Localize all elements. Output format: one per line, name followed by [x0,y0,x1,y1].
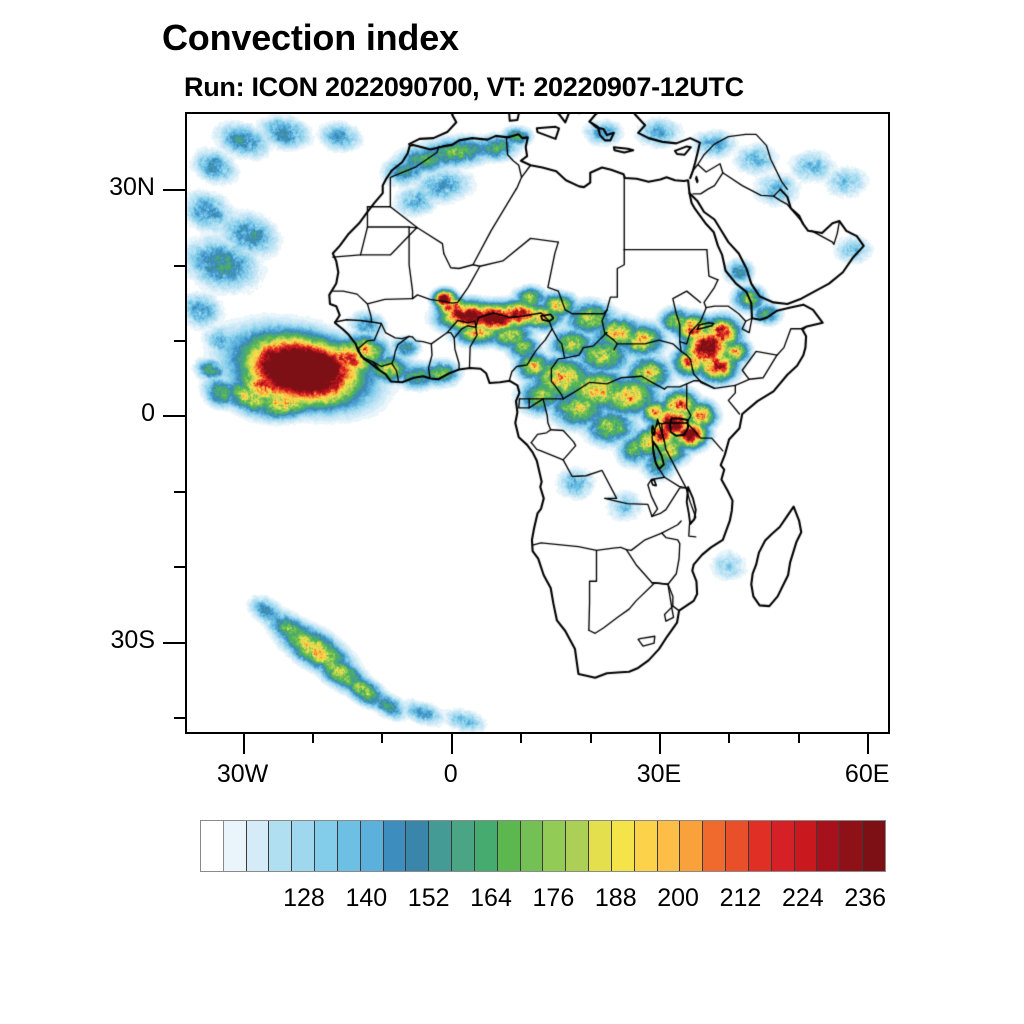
colorbar-cell [863,821,885,871]
page-subtitle: Run: ICON 2022090700, VT: 20220907-12UTC [184,72,744,103]
y-tick [174,265,185,267]
colorbar-cell [406,821,429,871]
colorbar-cell [269,821,292,871]
colorbar-cell [429,821,452,871]
x-tick [520,732,522,743]
colorbar[interactable] [200,820,886,872]
y-tick [163,642,185,644]
colorbar-cell [315,821,338,871]
colorbar-cell [338,821,361,871]
x-axis-label: 60E [807,760,927,789]
colorbar-cell [384,821,407,871]
map-plot-area[interactable] [185,112,890,734]
x-tick [728,732,730,743]
x-tick [590,732,592,743]
colorbar-cell [247,821,270,871]
colorbar-tick-label: 236 [805,884,925,913]
x-tick [243,732,245,754]
colorbar-cell [817,821,840,871]
colorbar-cell [543,821,566,871]
y-tick [163,189,185,191]
colorbar-cell [772,821,795,871]
y-axis-label: 30S [75,626,155,655]
colorbar-cell [589,821,612,871]
colorbar-cell [201,821,224,871]
x-axis-label: 30E [599,760,719,789]
colorbar-cell [566,821,589,871]
page-title: Convection index [162,17,459,59]
colorbar-cell [658,821,681,871]
x-tick [312,732,314,743]
colorbar-cell [361,821,384,871]
colorbar-cell [726,821,749,871]
y-tick [174,566,185,568]
x-axis-label: 0 [391,760,511,789]
colorbar-cell [475,821,498,871]
y-tick [163,415,185,417]
y-tick [174,491,185,493]
colorbar-cell [840,821,863,871]
colorbar-cell [521,821,544,871]
colorbar-cell [292,821,315,871]
x-axis-label: 30W [183,760,303,789]
x-tick [381,732,383,743]
colorbar-cell [452,821,475,871]
y-axis-label: 30N [75,173,155,202]
y-tick [174,717,185,719]
x-tick [451,732,453,754]
weather-map-page: Convection index Run: ICON 2022090700, V… [0,0,1024,1024]
colorbar-cell [703,821,726,871]
convection-index-map [187,114,888,732]
y-tick [174,340,185,342]
colorbar-cell [749,821,772,871]
colorbar-cell [612,821,635,871]
x-tick [659,732,661,754]
colorbar-cell [635,821,658,871]
colorbar-cell [498,821,521,871]
x-tick [798,732,800,743]
x-tick [867,732,869,754]
colorbar-cell [224,821,247,871]
y-axis-label: 0 [75,399,155,428]
colorbar-cell [795,821,818,871]
colorbar-cell [680,821,703,871]
